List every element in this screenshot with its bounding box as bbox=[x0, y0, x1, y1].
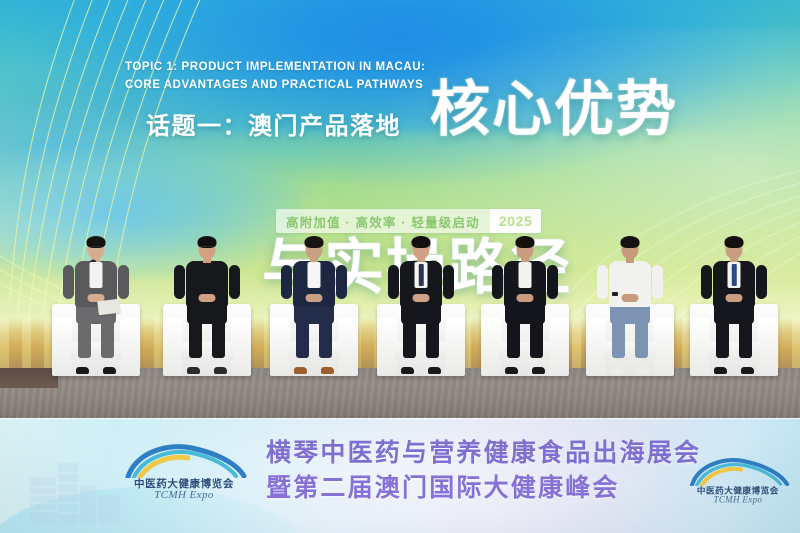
panelist-seat-2 bbox=[163, 236, 251, 376]
legs bbox=[188, 318, 226, 358]
hair bbox=[621, 236, 640, 248]
bottom-event-banner: 中医药大健康博览会 TCMH Expo 横琴中医药与营养健康食品出海展会 暨第二… bbox=[0, 418, 800, 533]
subtitle-tag-bar: 高附加值 · 高效率 · 轻量级启动 2025 bbox=[276, 209, 541, 233]
shoes bbox=[505, 364, 545, 374]
panelist-5 bbox=[493, 238, 557, 370]
shoes bbox=[714, 364, 754, 374]
panelist-seat-7 bbox=[690, 236, 778, 376]
expo-logo-arc-icon-right bbox=[684, 458, 792, 486]
legs bbox=[506, 318, 544, 358]
panelist-3 bbox=[282, 238, 346, 370]
glasses-icon bbox=[199, 246, 215, 250]
eyebrow-line-1: TOPIC 1: PRODUCT IMPLEMENTATION IN MACAU… bbox=[125, 61, 425, 73]
hands bbox=[517, 294, 534, 302]
subtitle-tags: 高附加值 · 高效率 · 轻量级启动 bbox=[276, 209, 490, 233]
arm-left bbox=[174, 265, 185, 299]
shirt-front bbox=[519, 262, 532, 288]
shoes bbox=[610, 364, 650, 374]
arm-left bbox=[281, 265, 292, 299]
legs bbox=[402, 318, 440, 358]
necktie-front bbox=[419, 264, 424, 286]
hands bbox=[622, 294, 639, 302]
arm-left bbox=[597, 265, 608, 299]
banner-title-line-1: 横琴中医药与营养健康食品出海展会 bbox=[266, 436, 736, 471]
panelist-1 bbox=[64, 238, 128, 370]
led-headline-block: TOPIC 1: PRODUCT IMPLEMENTATION IN MACAU… bbox=[0, 0, 800, 250]
arm-left bbox=[63, 265, 74, 299]
arm-right bbox=[443, 265, 454, 299]
legs bbox=[715, 318, 753, 358]
arm-left bbox=[492, 265, 503, 299]
necktie-front bbox=[732, 264, 737, 286]
hair bbox=[725, 236, 744, 248]
arm-right bbox=[229, 265, 240, 299]
panelist-seat-1 bbox=[52, 236, 140, 376]
hands bbox=[726, 294, 743, 302]
legs bbox=[295, 318, 333, 358]
year-badge: 2025 bbox=[490, 209, 542, 233]
hands bbox=[199, 294, 216, 302]
paper-notes bbox=[97, 299, 121, 316]
expo-logo-arc-icon bbox=[118, 444, 250, 478]
shoes bbox=[401, 364, 441, 374]
panelist-row bbox=[0, 236, 800, 376]
hands bbox=[306, 294, 323, 302]
shirt-front bbox=[308, 262, 321, 288]
shoes bbox=[294, 364, 334, 374]
arm-right bbox=[118, 265, 129, 299]
arm-right bbox=[336, 265, 347, 299]
shoes bbox=[76, 364, 116, 374]
panelist-6 bbox=[598, 238, 662, 370]
arm-left bbox=[388, 265, 399, 299]
arm-right bbox=[652, 265, 663, 299]
expo-logo-en-right: TCMH Expo bbox=[684, 495, 792, 505]
legs bbox=[77, 318, 115, 358]
hair bbox=[305, 236, 324, 248]
hair bbox=[516, 236, 535, 248]
glasses-icon bbox=[88, 246, 104, 250]
title-small-cn: 话题一：澳门产品落地 bbox=[146, 106, 401, 141]
panelist-seat-5 bbox=[481, 236, 569, 376]
wristwatch bbox=[612, 292, 618, 296]
conference-photo: TOPIC 1: PRODUCT IMPLEMENTATION IN MACAU… bbox=[0, 0, 800, 533]
panelist-seat-3 bbox=[270, 236, 358, 376]
arm-left bbox=[701, 265, 712, 299]
hair bbox=[412, 236, 431, 248]
expo-logo-right: 中医药大健康博览会 TCMH Expo bbox=[684, 458, 792, 509]
panelist-seat-4 bbox=[377, 236, 465, 376]
title-large-line-1: 核心优势 bbox=[430, 78, 678, 142]
arm-right bbox=[756, 265, 767, 299]
panelist-seat-6 bbox=[586, 236, 674, 376]
hands bbox=[413, 294, 430, 302]
panelist-4 bbox=[389, 238, 453, 370]
panelist-7 bbox=[702, 238, 766, 370]
banner-title-line-2: 暨第二届澳门国际大健康峰会 bbox=[266, 471, 736, 506]
legs bbox=[611, 318, 649, 358]
panelist-2 bbox=[175, 238, 239, 370]
shirt-front bbox=[90, 262, 103, 288]
arm-right bbox=[547, 265, 558, 299]
title-row: 话题一：澳门产品落地 核心优势 与实操路径 bbox=[0, 96, 800, 148]
expo-logo-left: 中医药大健康博览会 TCMH Expo bbox=[118, 444, 250, 506]
expo-logo-en-left: TCMH Expo bbox=[118, 489, 250, 501]
shoes bbox=[187, 364, 227, 374]
banner-title: 横琴中医药与营养健康食品出海展会 暨第二届澳门国际大健康峰会 bbox=[266, 436, 736, 506]
